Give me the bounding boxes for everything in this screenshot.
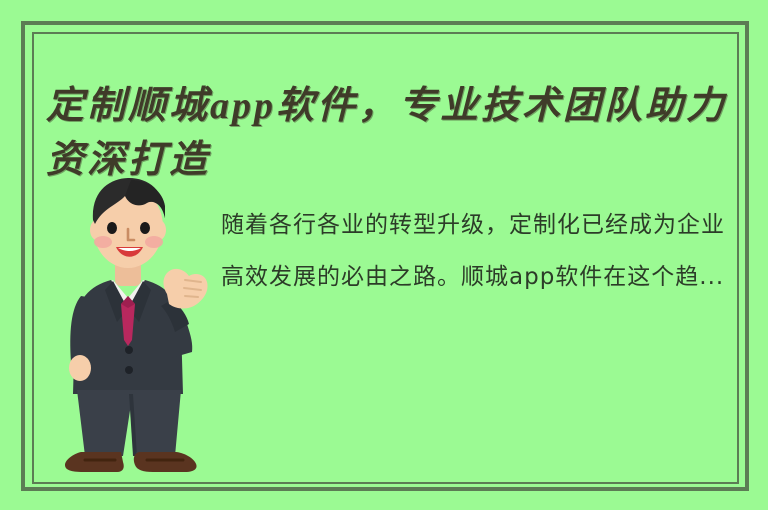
right-eye-icon — [140, 222, 150, 234]
businessman-svg — [55, 172, 215, 477]
suit-button-upper-icon — [125, 346, 133, 354]
left-hand-shape — [69, 355, 91, 381]
poster-body-text: 随着各行各业的转型升级，定制化已经成为企业高效发展的必由之路。顺城app软件在这… — [221, 199, 739, 303]
trousers-shape — [77, 390, 181, 456]
suit-button-lower-icon — [125, 366, 133, 374]
right-blush-shape — [145, 236, 163, 248]
right-shoe-shape — [134, 452, 197, 472]
left-shoe-shape — [65, 452, 124, 472]
left-eye-icon — [107, 222, 117, 234]
businessman-illustration — [55, 172, 215, 477]
left-blush-shape — [94, 236, 112, 248]
poster-canvas: 定制顺城app软件，专业技术团队助力资深打造 — [0, 0, 768, 510]
